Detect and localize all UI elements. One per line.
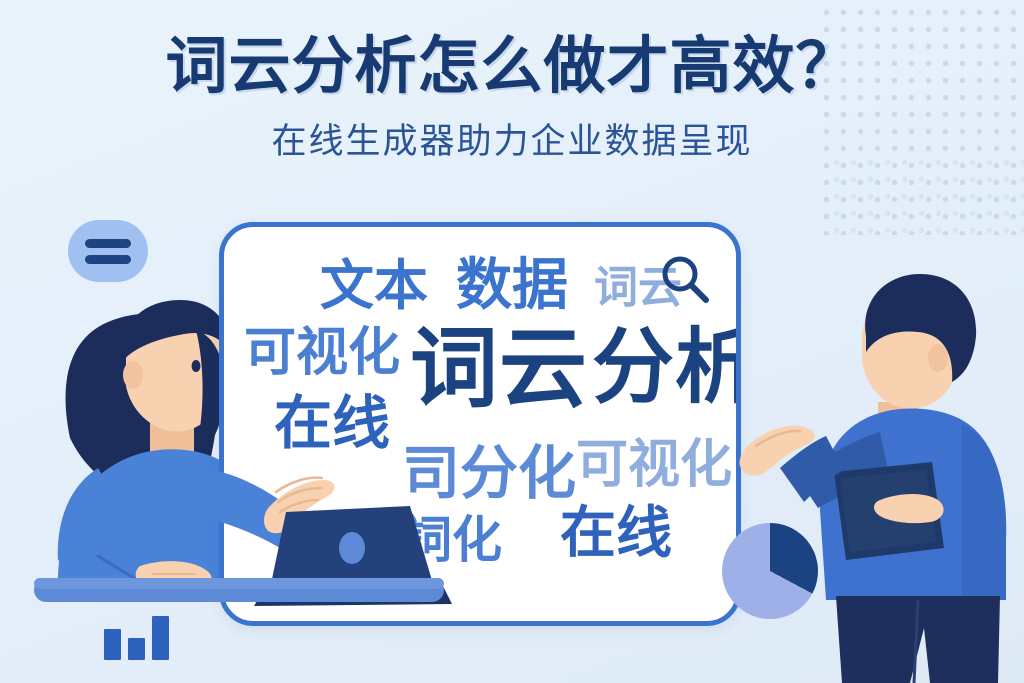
word-cloud-card[interactable]: 文本 数据 词云 可视化 在线 词云 分析 司分化 詞化 可视化 在线 bbox=[219, 222, 741, 626]
man-hand-pointing bbox=[747, 428, 814, 472]
word-cloud-term[interactable]: 可视化 bbox=[576, 439, 732, 491]
header: 词云分析怎么做才高效？ 在线生成器助力企业数据呈现 bbox=[0, 34, 1024, 164]
menu-icon bbox=[68, 220, 148, 282]
bar-chart-icon bbox=[104, 614, 170, 660]
word-cloud-term[interactable]: 可视化 bbox=[244, 327, 400, 379]
page-subtitle: 在线生成器助力企业数据呈现 bbox=[0, 113, 1024, 164]
menu-icon-bar-top bbox=[85, 239, 131, 248]
tablet bbox=[834, 462, 944, 560]
woman-hand-on-desk bbox=[136, 561, 212, 586]
bar-chart-icon-bar-2 bbox=[128, 638, 145, 660]
word-cloud-term[interactable]: 在线 bbox=[560, 505, 672, 561]
man-pointing-hand-front bbox=[740, 426, 844, 502]
page-title: 词云分析怎么做才高效？ bbox=[0, 34, 1024, 99]
word-cloud-term-primary[interactable]: 分析 bbox=[592, 327, 736, 409]
word-cloud-term[interactable]: 在线 bbox=[274, 395, 390, 453]
word-cloud-term[interactable]: 詞化 bbox=[402, 515, 502, 565]
poster-canvas: 词云分析怎么做才高效？ 在线生成器助力企业数据呈现 bbox=[0, 0, 1024, 683]
bar-chart-icon-bar-3 bbox=[152, 616, 169, 660]
word-cloud-term[interactable]: 数据 bbox=[456, 257, 568, 313]
word-cloud-term[interactable]: 司分化 bbox=[402, 445, 576, 503]
bar-chart-icon-bar-1 bbox=[104, 629, 121, 660]
pie-chart-icon bbox=[722, 523, 818, 619]
man-with-tablet bbox=[747, 274, 1006, 683]
search-icon[interactable] bbox=[656, 251, 714, 314]
word-cloud-term[interactable]: 文本 bbox=[320, 259, 428, 313]
word-cloud-term-primary[interactable]: 词云 bbox=[410, 325, 588, 413]
menu-icon-bar-bottom bbox=[85, 255, 131, 264]
